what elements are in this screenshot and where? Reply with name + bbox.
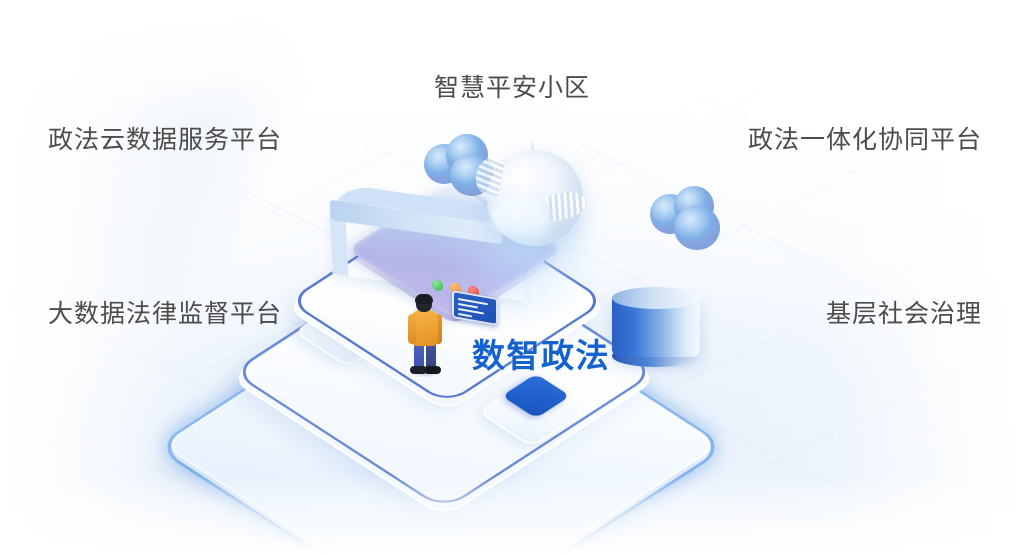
label-mid-right: 基层社会治理 xyxy=(826,302,982,327)
illustration-stage: 智慧平安小区 政法云数据服务平台 政法一体化协同平台 大数据法律监督平台 基层社… xyxy=(0,0,1024,555)
label-top-right: 政法一体化协同平台 xyxy=(748,128,982,153)
label-top-left: 政法云数据服务平台 xyxy=(48,128,282,153)
cloud-right-icon xyxy=(650,186,728,248)
left-fade-overlay xyxy=(0,0,180,555)
person-hair xyxy=(415,294,433,304)
label-top-center: 智慧平安小区 xyxy=(434,76,590,101)
right-fade-overlay xyxy=(824,0,1024,555)
person-figure xyxy=(405,296,445,374)
person-shoe-left xyxy=(410,366,427,374)
person-arm-left xyxy=(408,314,416,344)
bottom-fade-overlay xyxy=(0,475,1024,555)
cylinder-top xyxy=(612,287,700,309)
core-glow xyxy=(420,170,620,350)
label-center-title: 数智政法 xyxy=(472,339,610,372)
indicator-dot-green xyxy=(432,279,443,292)
label-mid-left: 大数据法律监督平台 xyxy=(48,302,282,327)
